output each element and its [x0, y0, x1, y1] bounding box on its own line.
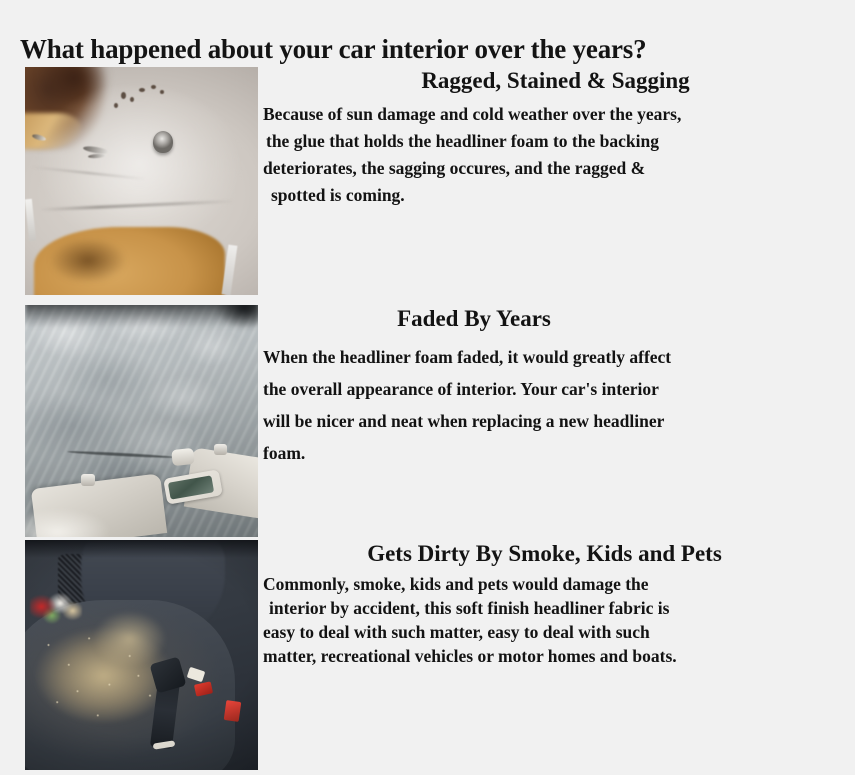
- body-line: the overall appearance of interior. Your…: [263, 373, 838, 405]
- section-heading-3: Gets Dirty By Smoke, Kids and Pets: [251, 540, 838, 568]
- body-line: Because of sun damage and cold weather o…: [263, 101, 838, 128]
- body-line: interior by accident, this soft finish h…: [263, 596, 838, 620]
- section-heading-2: Faded By Years: [110, 305, 838, 333]
- body-line: Commonly, smoke, kids and pets would dam…: [263, 572, 838, 596]
- body-line: deteriorates, the sagging occures, and t…: [263, 155, 838, 182]
- section-heading-1: Ragged, Stained & Sagging: [263, 67, 838, 95]
- body-line: matter, recreational vehicles or motor h…: [263, 644, 838, 668]
- section-2-text: Faded By Years When the headliner foam f…: [263, 305, 838, 469]
- body-line: the glue that holds the headliner foam t…: [263, 128, 838, 155]
- section-body-1: Because of sun damage and cold weather o…: [263, 101, 838, 209]
- body-line: foam.: [263, 437, 838, 469]
- body-line: easy to deal with such matter, easy to d…: [263, 620, 838, 644]
- section-3-text: Gets Dirty By Smoke, Kids and Pets Commo…: [263, 540, 838, 668]
- body-line: When the headliner foam faded, it would …: [263, 341, 838, 373]
- section-body-3: Commonly, smoke, kids and pets would dam…: [263, 572, 838, 668]
- page-title: What happened about your car interior ov…: [20, 32, 835, 66]
- headliner-faded-photo: [25, 305, 258, 537]
- section-1-text: Ragged, Stained & Sagging Because of sun…: [263, 67, 838, 209]
- headliner-sagging-photo: [25, 67, 258, 295]
- dirty-car-seat-photo: [25, 540, 258, 770]
- body-line: will be nicer and neat when replacing a …: [263, 405, 838, 437]
- product-info-page: What happened about your car interior ov…: [0, 0, 855, 775]
- body-line: spotted is coming.: [263, 182, 838, 209]
- section-body-2: When the headliner foam faded, it would …: [263, 341, 838, 469]
